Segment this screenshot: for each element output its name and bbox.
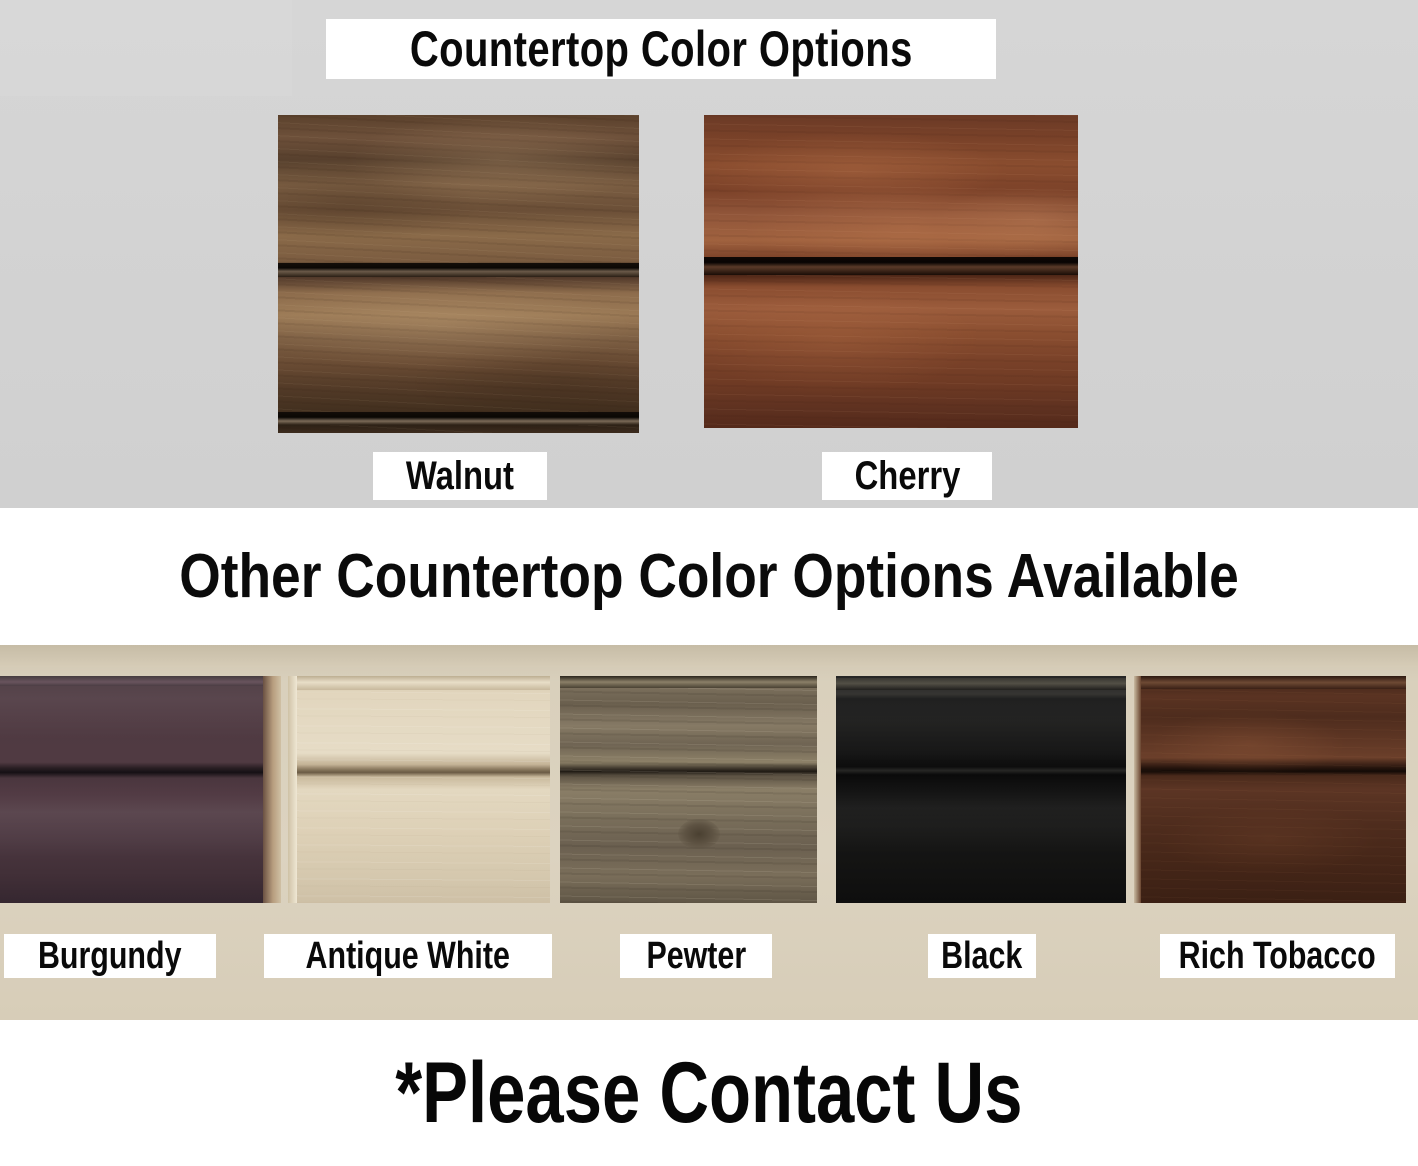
antique-white-label: Antique White <box>264 934 552 978</box>
page-title: Countertop Color Options <box>326 19 996 79</box>
pewter-swatch[interactable] <box>560 676 817 903</box>
contact-note-text: *Please Contact Us <box>395 1044 1022 1143</box>
black-label: Black <box>928 934 1036 978</box>
swatch-top-lip <box>1134 676 1406 689</box>
other-options-heading-band: Other Countertop Color Options Available <box>0 508 1418 645</box>
antique-white-swatch[interactable] <box>288 676 550 903</box>
groove-line-lower <box>278 412 639 425</box>
burgundy-swatch[interactable] <box>0 676 281 903</box>
burgundy-label-text: Burgundy <box>38 935 182 978</box>
rich-tobacco-label-text: Rich Tobacco <box>1179 935 1376 978</box>
swatch-side-edge <box>263 676 281 903</box>
rich-tobacco-label: Rich Tobacco <box>1160 934 1395 978</box>
wood-grain-texture <box>560 676 817 903</box>
black-label-text: Black <box>941 935 1022 978</box>
cherry-swatch[interactable] <box>704 115 1078 428</box>
swatch-top-lip <box>560 676 817 688</box>
groove-line <box>704 257 1078 274</box>
other-options-heading-text: Other Countertop Color Options Available <box>179 541 1239 612</box>
wood-knot <box>678 819 720 849</box>
wood-grain-texture <box>288 676 550 903</box>
wood-grain-texture <box>1134 676 1406 903</box>
walnut-label: Walnut <box>373 452 547 500</box>
pewter-label: Pewter <box>620 934 772 978</box>
cherry-label: Cherry <box>822 452 992 500</box>
pewter-label-text: Pewter <box>646 935 746 978</box>
burgundy-label: Burgundy <box>4 934 216 978</box>
antique-white-label-text: Antique White <box>306 935 510 978</box>
groove-line-upper <box>278 263 639 277</box>
swatch-top-lip <box>288 676 550 690</box>
contact-note: *Please Contact Us <box>0 1020 1418 1166</box>
page-title-text: Countertop Color Options <box>410 20 913 78</box>
rich-tobacco-swatch[interactable] <box>1134 676 1406 903</box>
walnut-swatch[interactable] <box>278 115 639 433</box>
featured-swatches-panel: Countertop Color Options Walnut Cherry <box>0 0 1418 508</box>
other-options-heading: Other Countertop Color Options Available <box>0 508 1418 645</box>
swatch-side-edge <box>1134 676 1141 903</box>
swatch-sheen <box>836 676 1126 903</box>
cherry-label-text: Cherry <box>854 454 960 499</box>
black-swatch[interactable] <box>836 676 1126 903</box>
color-options-poster: Countertop Color Options Walnut Cherry O… <box>0 0 1418 1166</box>
swatch-side-edge <box>288 676 297 903</box>
swatch-sheen <box>0 676 281 903</box>
walnut-label-text: Walnut <box>406 454 514 499</box>
